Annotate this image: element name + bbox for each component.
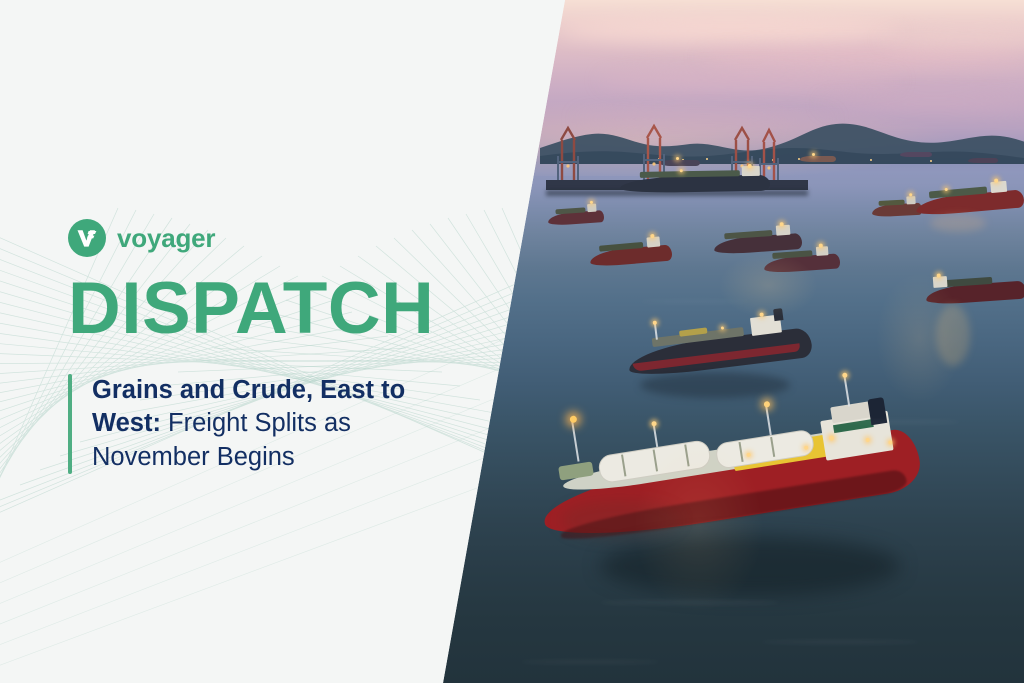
page-title: DISPATCH <box>68 274 468 343</box>
dispatch-banner: voyager DISPATCH Grains and Crude, East … <box>0 0 1024 683</box>
distant-vessel-c <box>900 152 932 157</box>
cloud-streak <box>700 46 1024 68</box>
cloud-streak <box>560 18 900 44</box>
accent-bar <box>68 374 72 473</box>
subtitle-text: Grains and Crude, East to West: Freight … <box>92 374 450 473</box>
voyager-v-flag-logo-icon <box>68 219 106 257</box>
subtitle-block: Grains and Crude, East to West: Freight … <box>68 374 468 473</box>
brand-wordmark: voyager <box>117 223 215 254</box>
panel-content: voyager DISPATCH Grains and Crude, East … <box>68 216 468 474</box>
brand-lockup[interactable]: voyager <box>68 216 468 260</box>
cloud-streak <box>600 70 900 90</box>
